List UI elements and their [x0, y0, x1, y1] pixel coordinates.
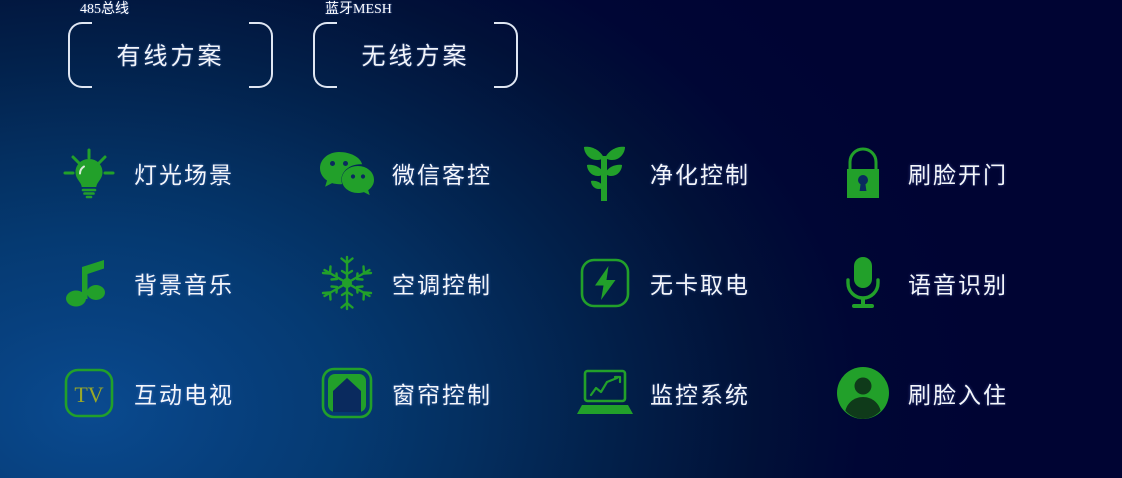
feature-label: 刷脸开门 — [908, 156, 1008, 190]
feature-item-face-checkin[interactable]: 刷脸入住 — [834, 338, 1070, 448]
feature-item-purification-control[interactable]: 净化控制 — [576, 118, 834, 228]
scheme-card-wired[interactable]: 485总线 有线方案 — [68, 22, 273, 84]
feature-label: 净化控制 — [650, 156, 750, 190]
feature-item-monitoring-system[interactable]: 监控系统 — [576, 338, 834, 448]
feature-item-wechat-control[interactable]: 微信客控 — [318, 118, 576, 228]
bracket-left-icon — [313, 22, 337, 88]
feature-item-cardless-power[interactable]: 无卡取电 — [576, 228, 834, 338]
feature-label: 无卡取电 — [650, 266, 750, 300]
feature-label: 窗帘控制 — [392, 376, 492, 410]
scheme-card-wireless[interactable]: 蓝牙MESH 无线方案 — [313, 22, 518, 84]
snowflake-icon — [318, 254, 376, 312]
feature-item-air-conditioning-control[interactable]: 空调控制 — [318, 228, 576, 338]
feature-label: 监控系统 — [650, 376, 750, 410]
scheme-tag-wired: 485总线 — [80, 0, 129, 18]
person-avatar-icon — [834, 364, 892, 422]
feature-item-curtain-control[interactable]: 窗帘控制 — [318, 338, 576, 448]
feature-item-interactive-tv[interactable]: TV 互动电视 — [60, 338, 318, 448]
plant-icon — [576, 144, 634, 202]
feature-item-voice-recognition[interactable]: 语音识别 — [834, 228, 1070, 338]
feature-label: 互动电视 — [134, 376, 234, 410]
curtain-icon — [318, 364, 376, 422]
scheme-title-wired: 有线方案 — [117, 36, 225, 71]
bracket-left-icon — [68, 22, 92, 88]
feature-label: 刷脸入住 — [908, 376, 1008, 410]
feature-label: 背景音乐 — [134, 266, 234, 300]
lightning-bolt-icon — [576, 254, 634, 312]
bracket-right-icon — [494, 22, 518, 88]
tv-icon: TV — [60, 364, 118, 422]
feature-label: 灯光场景 — [134, 156, 234, 190]
tv-icon-text: TV — [74, 382, 103, 407]
feature-label: 语音识别 — [908, 266, 1008, 300]
laptop-chart-icon — [576, 364, 634, 422]
music-note-icon — [60, 254, 118, 312]
feature-item-background-music[interactable]: 背景音乐 — [60, 228, 318, 338]
feature-item-lighting-scene[interactable]: 灯光场景 — [60, 118, 318, 228]
feature-item-face-unlock-door[interactable]: 刷脸开门 — [834, 118, 1070, 228]
feature-grid: 灯光场景 微信客控 — [60, 118, 1070, 448]
slide-canvas: 485总线 有线方案 蓝牙MESH 无线方案 — [0, 0, 1122, 478]
scheme-title-wireless: 无线方案 — [362, 36, 470, 71]
scheme-tag-wireless: 蓝牙MESH — [325, 0, 392, 18]
feature-label: 微信客控 — [392, 156, 492, 190]
microphone-icon — [834, 254, 892, 312]
lock-icon — [834, 144, 892, 202]
wechat-icon — [318, 144, 376, 202]
feature-label: 空调控制 — [392, 266, 492, 300]
bracket-right-icon — [249, 22, 273, 88]
lightbulb-icon — [60, 144, 118, 202]
